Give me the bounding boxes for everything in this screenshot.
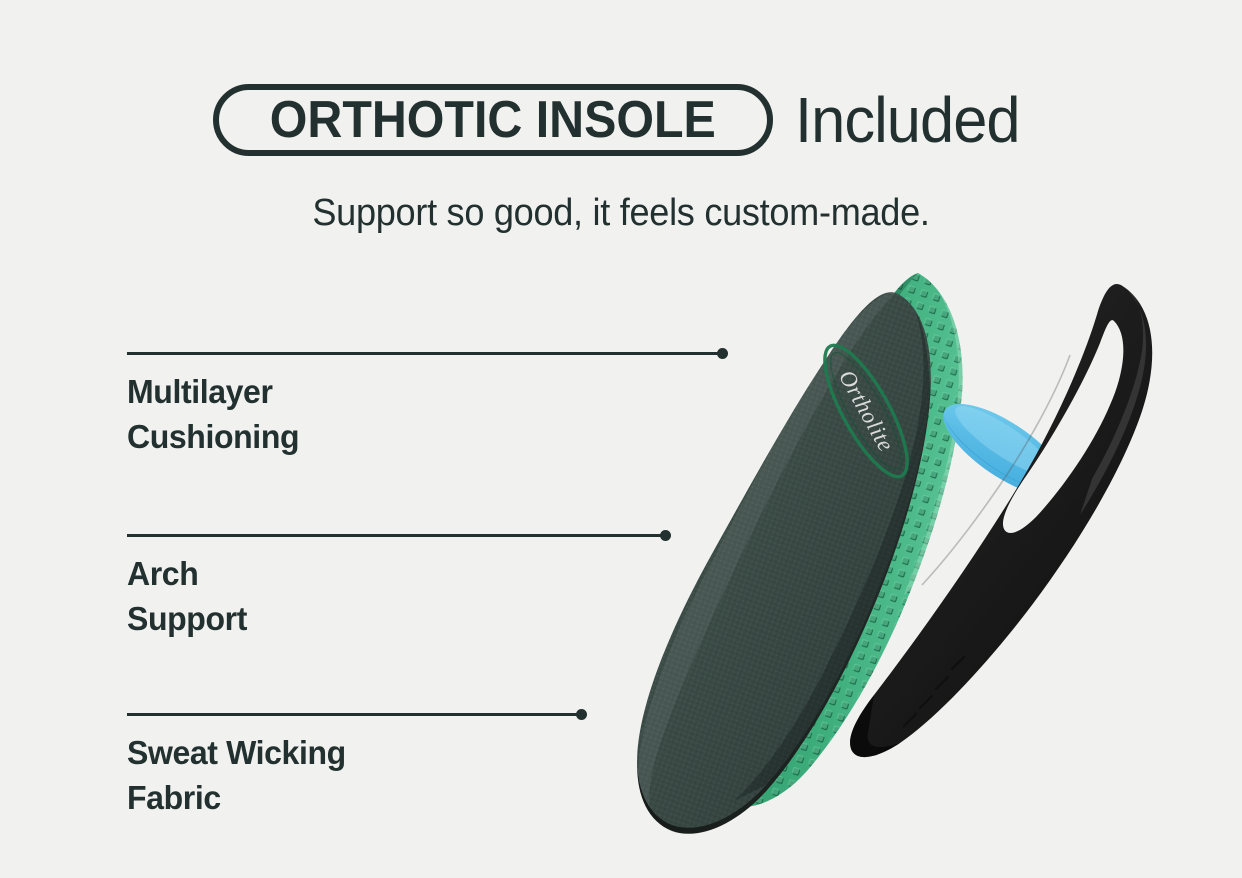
subtitle: Support so good, it feels custom-made. [31,192,1211,235]
badge-label: ORTHOTIC INSOLE [270,94,716,146]
feature-label: Multilayer Cushioning [127,370,299,459]
feature-arch-support: Arch Support [127,530,251,641]
feature-sweat-wicking-fabric: Sweat Wicking Fabric [127,709,353,820]
orthotic-insole-badge: ORTHOTIC INSOLE [213,84,773,156]
feature-label: Arch Support [127,552,247,641]
leader-dot [576,709,587,720]
product-illustration: Ortholite [600,265,1200,845]
header: ORTHOTIC INSOLE Included Support so good… [0,72,1242,235]
infographic-canvas: ORTHOTIC INSOLE Included Support so good… [0,0,1242,878]
feature-multilayer-cushioning: Multilayer Cushioning [127,348,304,459]
leader-line [127,348,304,358]
headline: ORTHOTIC INSOLE Included [0,72,1242,168]
leader-line [127,709,353,719]
leader-rule [127,534,666,537]
feature-label: Sweat Wicking Fabric [127,731,346,820]
leader-line [127,530,251,540]
leader-rule [127,713,582,716]
headline-suffix: Included [795,88,1020,152]
